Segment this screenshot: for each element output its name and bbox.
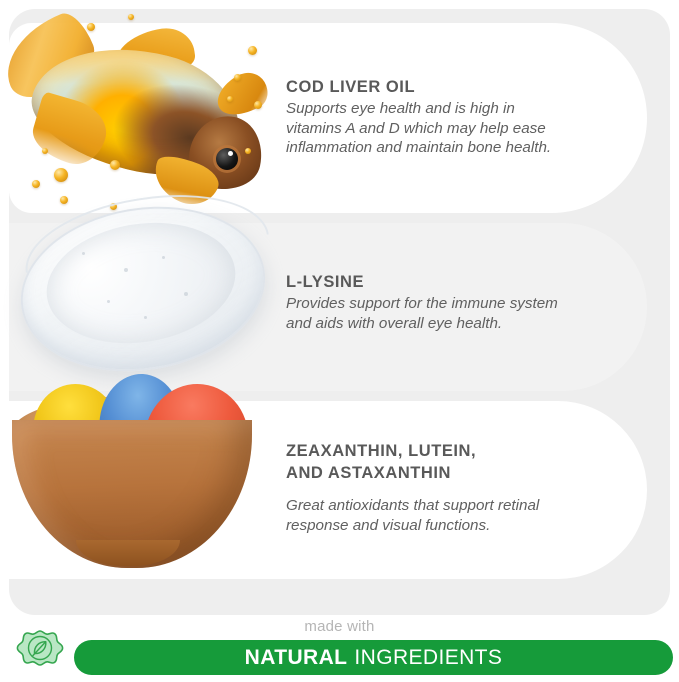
powder-speck — [162, 256, 165, 259]
banner-bold-text: NATURAL — [245, 646, 348, 670]
oil-droplet — [234, 74, 241, 81]
powder-speck — [82, 252, 85, 255]
banner-thin-text: INGREDIENTS — [354, 646, 502, 670]
leaf-badge-svg — [12, 628, 68, 680]
cod-liver-oil-fish-image — [2, 8, 272, 213]
oil-droplet — [87, 23, 95, 31]
leaf-badge-icon — [12, 628, 68, 680]
oil-droplet — [245, 148, 251, 154]
ingredient-title: L-LYSINE — [286, 271, 558, 293]
oil-droplet — [110, 160, 120, 170]
ingredient-text-zeaxanthin: ZEAXANTHIN, LUTEIN, AND ASTAXANTHIN Grea… — [286, 440, 539, 535]
made-with-label: made with — [0, 618, 679, 635]
ingredient-text-cod-liver-oil: COD LIVER OIL Supports eye health and is… — [286, 76, 551, 158]
ingredients-infographic: COD LIVER OIL Supports eye health and is… — [0, 0, 679, 682]
oil-droplet — [32, 180, 40, 188]
powder-speck — [144, 316, 147, 319]
powder-speck — [107, 300, 110, 303]
ingredient-title: ZEAXANTHIN, LUTEIN, AND ASTAXANTHIN — [286, 440, 539, 484]
ingredient-description: Supports eye health and is high in vitam… — [286, 99, 551, 158]
oil-droplet — [54, 168, 68, 182]
l-lysine-white-powder-dish-image — [12, 196, 274, 386]
powder-speck — [184, 292, 188, 296]
oil-droplet — [227, 96, 233, 102]
powder-speck — [124, 268, 128, 272]
colored-powder-wooden-bowl-image — [4, 382, 274, 577]
ingredient-description: Great antioxidants that support retinal … — [286, 496, 539, 535]
ingredient-text-l-lysine: L-LYSINE Provides support for the immune… — [286, 271, 558, 333]
oil-droplet — [254, 101, 262, 109]
fish-eye — [216, 148, 238, 170]
ingredient-title: COD LIVER OIL — [286, 76, 551, 98]
ingredient-description: Provides support for the immune system a… — [286, 294, 558, 333]
natural-ingredients-banner: NATURAL INGREDIENTS — [74, 640, 673, 675]
oil-droplet — [128, 14, 134, 20]
oil-droplet — [248, 46, 257, 55]
oil-droplet — [42, 148, 48, 154]
